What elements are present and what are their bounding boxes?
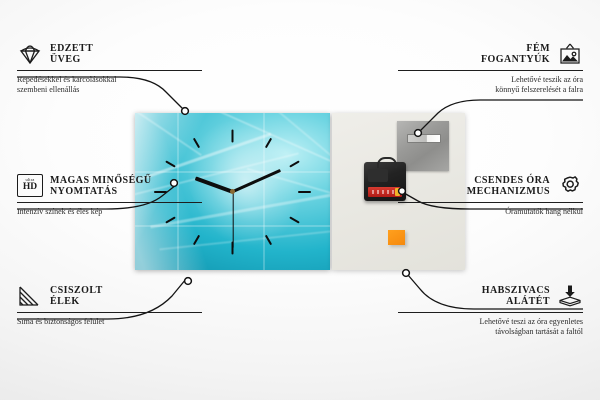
battery-label-mark xyxy=(382,190,384,194)
callout-description: Sima és biztonságos felület xyxy=(17,317,202,327)
callout-rule xyxy=(17,312,202,313)
movement-hanging-loop xyxy=(377,157,397,168)
callout-header: CSISZOLTÉLEK xyxy=(17,284,202,308)
callout-tempered-glass[interactable]: EDZETTÜVEG Repedésekkel és karcolásokkal… xyxy=(17,42,202,95)
callout-description: Repedésekkel és karcolásokkalszembeni el… xyxy=(17,75,202,95)
callout-header: CSENDES ÓRAMECHANIZMUS xyxy=(398,174,583,198)
infographic-poster: EDZETTÜVEG Repedésekkel és karcolásokkal… xyxy=(0,0,600,400)
connector-dot-foam-pad xyxy=(403,270,410,277)
callout-rule xyxy=(398,202,583,203)
callout-header: ultraHD MAGAS MINŐSÉGŰNYOMTATÁS xyxy=(17,174,202,198)
battery-label-mark xyxy=(372,190,374,194)
battery-label-mark xyxy=(377,190,379,194)
hour-marker xyxy=(265,138,272,149)
callout-description: Intenzív színek és éles kép xyxy=(17,207,202,217)
hour-marker xyxy=(290,160,301,167)
callout-title: MAGAS MINŐSÉGŰNYOMTATÁS xyxy=(50,175,152,198)
second-hand xyxy=(232,191,233,247)
hour-marker xyxy=(265,235,272,246)
callout-foam-pad[interactable]: HABSZIVACSALÁTÉT Lehetővé teszi az óra e… xyxy=(398,284,583,337)
ultra-hd-badge-icon: ultraHD xyxy=(17,174,43,198)
beveled-edge-icon xyxy=(17,284,43,308)
callout-rule xyxy=(17,70,202,71)
callout-title: FÉMFOGANTYÚK xyxy=(481,43,550,66)
callout-silent-mechanism[interactable]: CSENDES ÓRAMECHANIZMUS Óramutatók hang n… xyxy=(398,174,583,217)
hour-marker xyxy=(298,191,311,193)
callout-description: Lehetővé teszik az órakönnyű felszerelés… xyxy=(398,75,583,95)
hour-marker xyxy=(193,138,200,149)
callout-polished-edges[interactable]: CSISZOLTÉLEK Sima és biztonságos felület xyxy=(17,284,202,327)
diamond-icon xyxy=(17,42,43,66)
callout-title: CSENDES ÓRAMECHANIZMUS xyxy=(467,175,550,198)
callout-metal-handles[interactable]: FÉMFOGANTYÚK Lehetővé teszik az órakönny… xyxy=(398,42,583,95)
hour-marker xyxy=(193,235,200,246)
arrow-on-pad-icon xyxy=(557,284,583,308)
gear-icon xyxy=(557,174,583,198)
callout-description: Lehetővé teszi az óra egyenletestávolság… xyxy=(398,317,583,337)
battery-label-mark xyxy=(387,190,389,194)
callout-header: FÉMFOGANTYÚK xyxy=(398,42,583,66)
callout-rule xyxy=(398,312,583,313)
battery-label-mark xyxy=(392,190,394,194)
callout-header: HABSZIVACSALÁTÉT xyxy=(398,284,583,308)
movement-housing xyxy=(368,169,388,182)
minute-hand xyxy=(232,169,281,193)
callout-rule xyxy=(17,202,202,203)
callout-title: EDZETTÜVEG xyxy=(50,43,93,66)
callout-high-quality-print[interactable]: ultraHD MAGAS MINŐSÉGŰNYOMTATÁS Intenzív… xyxy=(17,174,202,217)
hour-marker xyxy=(232,129,234,142)
foam-pad xyxy=(388,230,405,245)
battery xyxy=(368,187,402,197)
hour-marker xyxy=(165,160,176,167)
picture-hanger-icon xyxy=(557,42,583,66)
callout-title: HABSZIVACSALÁTÉT xyxy=(482,285,550,308)
hanger-slot xyxy=(407,134,441,143)
callout-header: EDZETTÜVEG xyxy=(17,42,202,66)
clock-hub xyxy=(230,189,235,194)
hour-marker xyxy=(290,216,301,223)
callout-rule xyxy=(398,70,583,71)
callout-description: Óramutatók hang nélkül xyxy=(398,207,583,217)
callout-title: CSISZOLTÉLEK xyxy=(50,285,103,308)
